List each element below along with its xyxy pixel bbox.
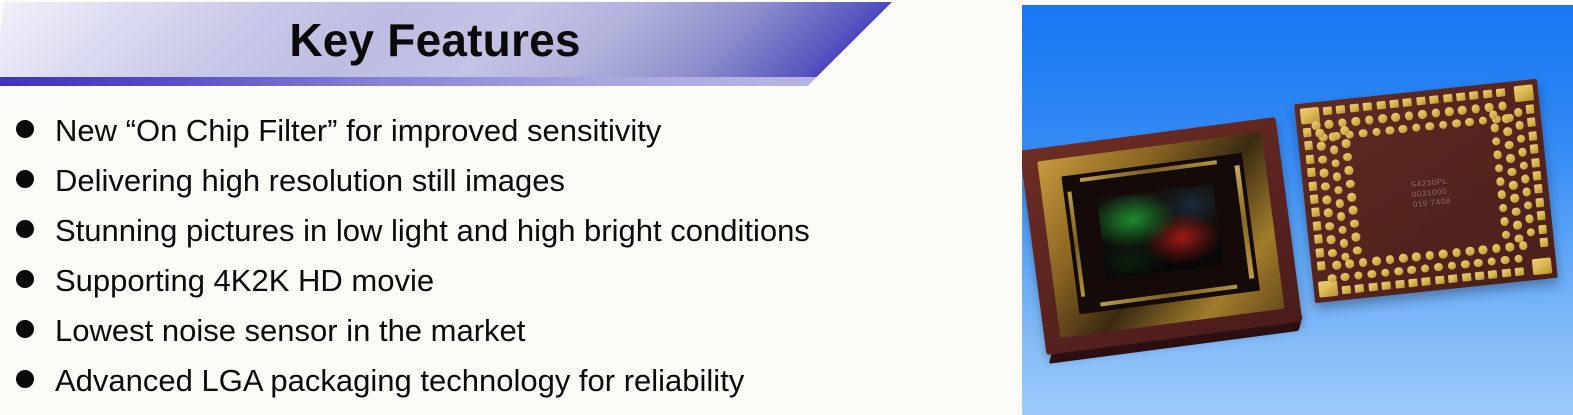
lga-pad [1528, 131, 1537, 141]
lga-pad [1461, 273, 1471, 282]
lga-pad [1507, 167, 1516, 176]
bullet-icon [16, 370, 34, 388]
lga-pad [1535, 198, 1544, 208]
lga-pad [1418, 110, 1427, 119]
lga-pad [1490, 123, 1499, 132]
lga-pad [1491, 137, 1500, 146]
lga-pad [1328, 248, 1337, 257]
lga-pad [1336, 105, 1346, 114]
lga-pad [1460, 259, 1469, 268]
lga-pad [1327, 273, 1336, 282]
image-sensor-chip [1022, 117, 1302, 355]
lga-pad [1513, 220, 1522, 229]
lga-pad [1343, 152, 1352, 161]
lga-pad [1443, 94, 1453, 103]
lga-pad [1438, 120, 1447, 129]
lga-pad [1538, 224, 1547, 234]
lga-pad [1323, 106, 1333, 115]
lga-pad [1501, 269, 1511, 278]
lga-pad [1498, 101, 1507, 110]
lga-pad [1506, 154, 1515, 163]
lga-pad [1523, 201, 1532, 210]
lga-pad [1322, 195, 1331, 204]
lga-substrate: S4230PL 0031000 019 7408 [1294, 79, 1558, 303]
lga-pad [1540, 238, 1549, 248]
lga-pad [1304, 141, 1313, 151]
feature-text: New “On Chip Filter” for improved sensit… [55, 106, 661, 156]
lga-pad [1478, 116, 1487, 125]
lga-pad [1500, 217, 1509, 226]
lga-pad [1501, 230, 1510, 239]
lga-pad [1537, 211, 1546, 221]
lga-pad [1438, 249, 1447, 258]
lga-pad [1395, 280, 1405, 289]
lga-pad [1319, 168, 1328, 177]
lga-pad [1336, 212, 1345, 221]
lga-pad [1496, 88, 1506, 97]
lga-pad [1328, 132, 1337, 141]
list-item: Delivering high resolution still images [0, 154, 1010, 204]
bullet-icon [16, 120, 34, 138]
lga-pad [1398, 124, 1407, 133]
lga-pad [1363, 102, 1373, 111]
lga-pad [1448, 274, 1458, 283]
page-title: Key Features [0, 0, 870, 80]
lga-pad [1483, 90, 1493, 99]
lga-pad [1514, 234, 1523, 243]
lga-pad [1531, 158, 1540, 168]
lga-pad [1444, 107, 1453, 116]
lga-pad [1333, 185, 1342, 194]
lga-pad [1311, 208, 1320, 218]
lga-pad [1372, 256, 1381, 265]
lga-pad [1351, 232, 1360, 241]
feature-text: Advanced LGA packaging technology for re… [55, 356, 744, 406]
lga-pad [1516, 134, 1525, 143]
lga-pad [1352, 246, 1361, 255]
lga-pad [1308, 181, 1317, 191]
lga-package-chip: S4230PL 0031000 019 7408 [1294, 79, 1558, 303]
lga-pad [1340, 272, 1349, 281]
lga-pad [1398, 253, 1407, 262]
content-panel: Key Features New “On Chip Filter” for im… [0, 0, 1012, 415]
sensor-die [1097, 184, 1224, 280]
lga-pad [1408, 278, 1418, 287]
lga-corner-pad [1514, 84, 1535, 102]
lga-pad [1425, 251, 1434, 260]
lga-pad [1389, 99, 1399, 108]
lga-pad [1325, 222, 1334, 231]
lga-pad [1313, 221, 1322, 231]
lga-pad [1465, 246, 1474, 255]
lga-pad [1471, 104, 1480, 113]
lga-pad [1488, 110, 1497, 119]
lga-pad [1488, 270, 1498, 279]
lga-pad [1315, 248, 1324, 258]
lga-pad [1504, 140, 1513, 149]
lga-pad [1515, 267, 1525, 276]
lga-pad [1501, 114, 1510, 123]
lga-pad [1452, 119, 1461, 128]
lga-pad [1364, 115, 1373, 124]
list-item: Supporting 4K2K HD movie [0, 254, 1010, 304]
lga-laser-marking: S4230PL 0031000 019 7408 [1410, 177, 1451, 211]
lga-pad [1316, 142, 1325, 151]
lga-pad [1329, 145, 1338, 154]
lga-pad [1513, 108, 1522, 117]
lga-pad [1303, 128, 1312, 138]
lga-pad [1416, 97, 1426, 106]
lga-pad [1345, 179, 1354, 188]
lga-pad [1429, 95, 1439, 104]
lga-pad [1318, 155, 1327, 164]
feature-text: Lowest noise sensor in the market [55, 306, 525, 356]
lga-pad [1403, 98, 1413, 107]
bullet-icon [16, 220, 34, 238]
lga-pad [1469, 91, 1479, 100]
feature-text: Stunning pictures in low light and high … [55, 206, 810, 256]
lga-pad [1533, 171, 1542, 181]
lga-pad [1508, 180, 1517, 189]
lga-pad [1475, 271, 1485, 280]
lga-pad [1354, 271, 1363, 280]
sensor-gold-ring [1037, 132, 1284, 338]
lga-pad [1525, 214, 1534, 223]
lga-pad [1435, 276, 1445, 285]
list-item: Advanced LGA packaging technology for re… [0, 354, 1010, 404]
list-item: Stunning pictures in low light and high … [0, 204, 1010, 254]
lga-pad [1344, 166, 1353, 175]
lga-pad [1404, 111, 1413, 120]
lga-pad [1493, 150, 1502, 159]
lga-pad [1431, 108, 1440, 117]
lga-pad [1494, 163, 1503, 172]
lga-pad [1412, 123, 1421, 132]
lga-pad [1381, 281, 1391, 290]
lga-pad [1495, 177, 1504, 186]
lga-pad [1376, 101, 1386, 110]
lga-pad [1500, 255, 1509, 264]
lga-pad [1458, 105, 1467, 114]
bullet-icon [16, 270, 34, 288]
lga-pad [1492, 244, 1501, 253]
lga-pad [1378, 114, 1387, 123]
lga-pad [1515, 121, 1524, 130]
lga-pad [1338, 225, 1347, 234]
lga-pad [1497, 190, 1506, 199]
lga-pad [1347, 192, 1356, 201]
lga-pad [1519, 161, 1528, 170]
lga-pad [1335, 199, 1344, 208]
lga-pad [1487, 257, 1496, 266]
lga-pad [1420, 264, 1429, 273]
list-item: Lowest noise sensor in the market [0, 304, 1010, 354]
lga-pad [1317, 261, 1326, 271]
lga-pad [1368, 283, 1378, 292]
lga-pad [1385, 126, 1394, 135]
lga-pad [1518, 147, 1527, 156]
lga-pad [1342, 285, 1352, 294]
lga-pad [1385, 255, 1394, 264]
lga-pad [1434, 262, 1443, 271]
lga-pad [1367, 269, 1376, 278]
lga-pad [1332, 172, 1341, 181]
lga-pad [1380, 268, 1389, 277]
lga-pad [1534, 184, 1543, 194]
lga-corner-pad [1532, 257, 1553, 275]
lga-pad [1326, 235, 1335, 244]
lga-pad [1350, 219, 1359, 228]
lga-pad [1421, 277, 1431, 286]
sensor-package-body [1022, 117, 1302, 355]
lga-pad [1412, 252, 1421, 261]
lga-pad [1465, 117, 1474, 126]
feature-text: Delivering high resolution still images [55, 156, 565, 206]
lga-pad [1306, 154, 1315, 164]
lga-pad [1394, 266, 1403, 275]
lga-pad [1505, 242, 1514, 251]
slide-root: Key Features New “On Chip Filter” for im… [0, 0, 1573, 415]
lga-pad [1348, 206, 1357, 215]
lga-pad [1355, 284, 1365, 293]
lga-pad [1332, 260, 1341, 269]
lga-pad [1349, 104, 1359, 113]
lga-pad [1520, 174, 1529, 183]
bullet-icon [16, 320, 34, 338]
lga-pad [1511, 207, 1520, 216]
feature-text: Supporting 4K2K HD movie [55, 256, 434, 306]
lga-pad [1331, 159, 1340, 168]
lga-pad [1510, 194, 1519, 203]
lga-corner-pad [1318, 280, 1339, 298]
lga-pad [1452, 248, 1461, 257]
lga-pad [1498, 203, 1507, 212]
lga-pad [1527, 118, 1536, 128]
lga-pad [1351, 117, 1360, 126]
lga-pad [1514, 254, 1523, 263]
lga-pad [1478, 245, 1487, 254]
lga-pad [1307, 168, 1316, 178]
lga-pad [1321, 182, 1330, 191]
lga-pad [1522, 187, 1531, 196]
lga-pad [1340, 126, 1349, 135]
list-item: New “On Chip Filter” for improved sensit… [0, 104, 1010, 154]
lga-pad [1526, 104, 1535, 114]
lga-pad [1358, 128, 1367, 137]
lga-pad [1530, 144, 1539, 154]
lga-pad [1447, 261, 1456, 270]
panel-left-margin [1012, 0, 1022, 415]
lga-pad [1407, 265, 1416, 274]
lga-pad [1341, 139, 1350, 148]
lga-pad [1372, 127, 1381, 136]
lga-pad [1315, 128, 1324, 137]
lga-pad [1425, 121, 1434, 130]
product-photo: S4230PL 0031000 019 7408 [1022, 5, 1573, 415]
lga-pad [1391, 112, 1400, 121]
lga-pad [1310, 194, 1319, 204]
lga-pad [1339, 239, 1348, 248]
lga-pad [1526, 227, 1535, 236]
feature-list: New “On Chip Filter” for improved sensit… [0, 104, 1010, 404]
panel-top-margin [1012, 0, 1573, 5]
lga-pad [1358, 258, 1367, 267]
lga-pad [1474, 258, 1483, 267]
bullet-icon [16, 170, 34, 188]
lga-pad [1323, 208, 1332, 217]
lga-pad [1503, 127, 1512, 136]
lga-pad [1324, 119, 1333, 128]
lga-pad [1456, 92, 1466, 101]
lga-pad [1314, 234, 1323, 244]
